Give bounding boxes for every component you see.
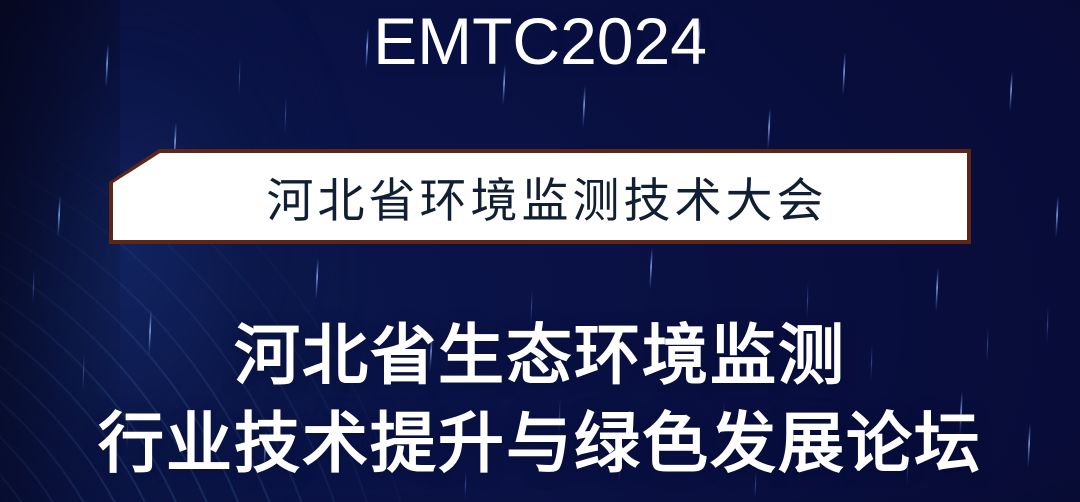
banner-label: 河北省环境监测技术大会 xyxy=(109,149,971,244)
conference-poster: EMTC2024 河北省环境监测技术大会 河北省生态环境监测 行业技术提升与绿色… xyxy=(0,0,1080,502)
conference-name-banner: 河北省环境监测技术大会 xyxy=(109,149,971,244)
headline-line-1: 河北省生态环境监测 xyxy=(0,316,1080,394)
page-title-english: EMTC2024 xyxy=(0,2,1080,80)
headline-line-2: 行业技术提升与绿色发展论坛 xyxy=(0,404,1080,482)
poster-content: EMTC2024 河北省环境监测技术大会 河北省生态环境监测 行业技术提升与绿色… xyxy=(0,0,1080,502)
